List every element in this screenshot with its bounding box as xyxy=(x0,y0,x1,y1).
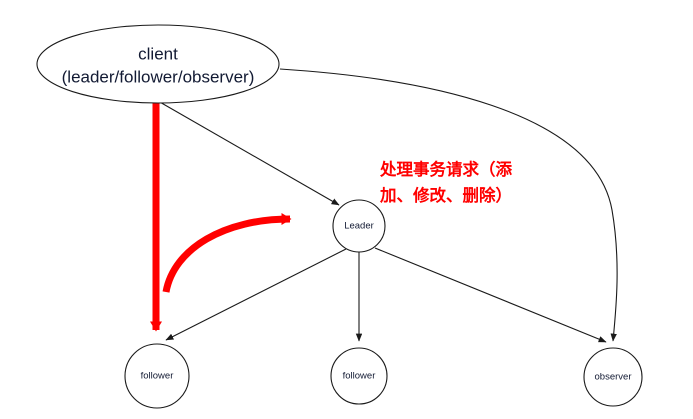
diagram-svg: client (leader/follower/observer) Leader… xyxy=(0,0,693,419)
client-ellipse-shape xyxy=(37,25,279,103)
annotation-line1: 处理事务请求（添 xyxy=(379,159,513,179)
node-leader[interactable]: Leader xyxy=(333,200,385,252)
client-label-line1: client xyxy=(138,44,178,63)
node-observer[interactable]: observer xyxy=(584,348,642,406)
edge-client-to-observer xyxy=(280,69,617,341)
edge-leader-to-follower-left xyxy=(166,249,346,340)
annotation-transaction-request: 处理事务请求（添 加、修改、删除） xyxy=(379,159,513,205)
node-follower-left[interactable]: follower xyxy=(125,344,189,408)
client-label-line2: (leader/follower/observer) xyxy=(62,67,255,86)
edge-follower-left-to-leader-red xyxy=(166,219,290,292)
follower-left-label: follower xyxy=(141,371,174,382)
node-follower-middle[interactable]: follower xyxy=(331,348,387,404)
annotation-line2: 加、修改、删除） xyxy=(379,185,512,205)
diagram-canvas: client (leader/follower/observer) Leader… xyxy=(0,0,693,419)
edge-client-to-leader xyxy=(158,101,339,205)
node-client[interactable]: client (leader/follower/observer) xyxy=(37,25,279,103)
leader-label: Leader xyxy=(344,221,374,232)
follower-middle-label: follower xyxy=(343,371,376,382)
edge-leader-to-observer xyxy=(375,248,606,342)
observer-label: observer xyxy=(595,372,632,383)
